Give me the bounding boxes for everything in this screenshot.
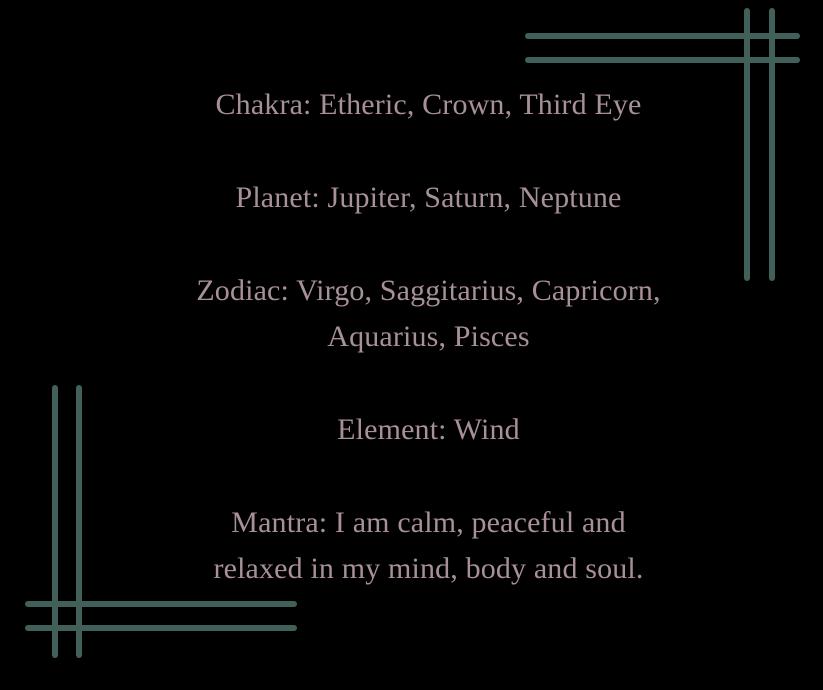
attribute-line-mantra: Mantra: I am calm, peaceful and relaxed … — [34, 500, 823, 592]
top-spacer — [34, 0, 823, 82]
chakra-attribute-card: Chakra: Etheric, Crown, Third Eye Planet… — [0, 0, 823, 690]
attribute-list: Chakra: Etheric, Crown, Third Eye Planet… — [0, 0, 823, 592]
attribute-line-zodiac: Zodiac: Virgo, Saggitarius, Capricorn, A… — [34, 268, 823, 360]
attribute-line-chakra: Chakra: Etheric, Crown, Third Eye — [34, 82, 823, 128]
attribute-line-element: Element: Wind — [34, 407, 823, 453]
line-spacer — [34, 221, 823, 268]
line-spacer — [34, 360, 823, 407]
ornament-horizontal-rule — [25, 601, 297, 607]
attribute-line-planet: Planet: Jupiter, Saturn, Neptune — [34, 175, 823, 221]
line-spacer — [34, 453, 823, 500]
line-spacer — [34, 128, 823, 175]
ornament-horizontal-rule — [25, 625, 297, 631]
